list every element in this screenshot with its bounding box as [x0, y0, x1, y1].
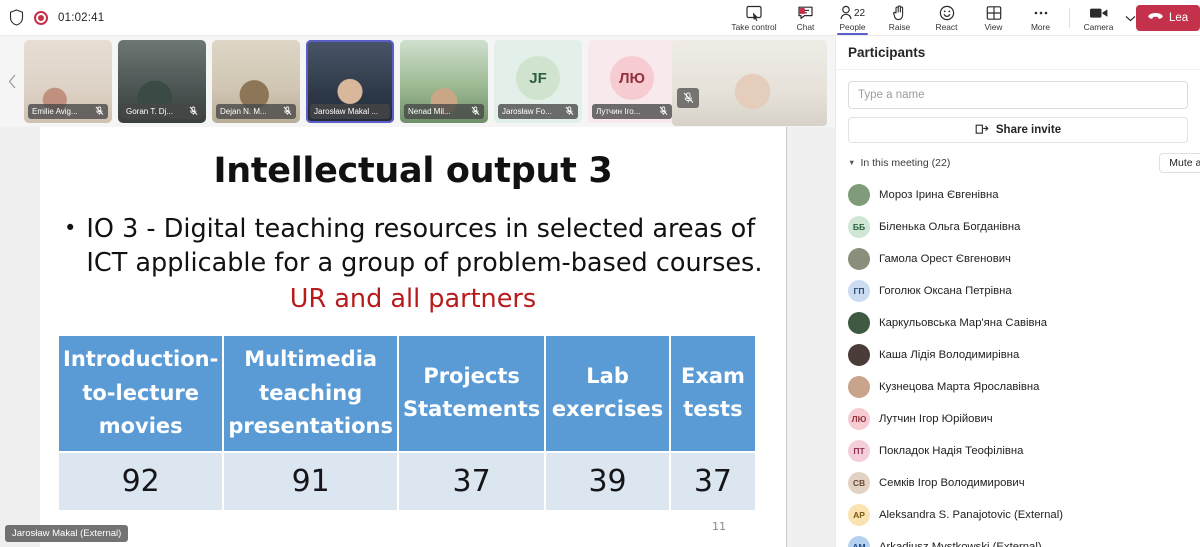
- slide-page-number: 11: [712, 520, 726, 533]
- avatar: ПТ: [848, 440, 870, 462]
- avatar: АМ: [848, 536, 870, 547]
- participant-row[interactable]: Гамола Орест Євгенович▼: [848, 243, 1188, 275]
- tile-name-bar: Nenad Mil...: [404, 104, 484, 119]
- hangup-icon: [1148, 12, 1163, 24]
- participant-row[interactable]: БББіленька Ольга Богданівна▼: [848, 211, 1188, 243]
- tile-name-bar: Лутчин Іго...: [592, 104, 672, 119]
- table-value-cell: 91: [224, 453, 397, 510]
- raise-hand-button[interactable]: Raise: [876, 0, 923, 36]
- tile-name-bar: Jarosław Makal ...: [310, 104, 390, 119]
- take-control-button[interactable]: Take control: [726, 0, 782, 36]
- participant-name: Мороз Ірина Євгенівна: [879, 189, 999, 201]
- raise-hand-label: Raise: [889, 23, 910, 32]
- camera-label: Camera: [1084, 23, 1114, 32]
- participants-panel-body: Type a name Share invite ▼ In this meeti…: [836, 70, 1200, 547]
- avatar: ЛЮ: [848, 408, 870, 430]
- table-header-cell: Projects Statements: [399, 336, 544, 451]
- tile-name-bar: Dejan N. M...: [216, 104, 296, 119]
- view-button[interactable]: View: [970, 0, 1017, 36]
- filmstrip-prev-button[interactable]: [0, 36, 24, 127]
- mic-muted-icon: [659, 103, 668, 121]
- participant-row[interactable]: АРAleksandra S. Panajotovic (External)▼: [848, 499, 1188, 531]
- active-speaker-tile[interactable]: [672, 40, 827, 126]
- participant-row[interactable]: Кузнецова Марта Ярославівна▼: [848, 371, 1188, 403]
- participant-name: Arkadiusz Mystkowski (External): [879, 541, 1042, 547]
- participant-name: Біленька Ольга Богданівна: [879, 221, 1020, 233]
- share-invite-label: Share invite: [996, 124, 1061, 136]
- slide-bullet-item: • IO 3 - Digital teaching resources in s…: [64, 213, 770, 280]
- avatar: [848, 376, 870, 398]
- participant-row[interactable]: Мороз Ірина Євгенівна▼: [848, 179, 1188, 211]
- people-label: People: [839, 23, 865, 32]
- table-header-cell: Exam tests: [671, 336, 755, 451]
- video-tile[interactable]: Jarosław Makal ...: [306, 40, 394, 123]
- shield-icon: [9, 9, 24, 26]
- toolbar-divider: [1069, 8, 1070, 28]
- table-value-cell: 37: [399, 453, 544, 510]
- teams-meeting-window: 01:02:41 Take control Chat 22: [0, 0, 1200, 547]
- more-label: More: [1031, 23, 1050, 32]
- camera-button[interactable]: Camera: [1075, 0, 1122, 36]
- in-this-meeting-section: ▼ In this meeting (22) Mute all: [848, 153, 1188, 173]
- participant-row[interactable]: ПТПокладок Надія Теофілівна▼: [848, 435, 1188, 467]
- chat-button[interactable]: Chat: [782, 0, 829, 36]
- slide-subtitle: UR and all partners: [40, 284, 786, 314]
- participant-name: Лутчин Ігор Юрійович: [879, 413, 993, 425]
- table-header-row: Introduction-to-lecture moviesMultimedia…: [59, 336, 755, 451]
- avatar: ЛЮ: [610, 56, 654, 100]
- participant-name: Каша Лідія Володимирівна: [879, 349, 1019, 361]
- slide-data-table: Introduction-to-lecture moviesMultimedia…: [57, 334, 757, 512]
- participant-name: Гоголюк Оксана Петрівна: [879, 285, 1012, 297]
- participant-name: Кузнецова Марта Ярославівна: [879, 381, 1039, 393]
- mic-muted-icon: [283, 103, 292, 121]
- leave-button[interactable]: Lea: [1136, 5, 1200, 31]
- tile-participant-name: Jarosław Fo...: [502, 107, 562, 116]
- tile-participant-name: Nenad Mil...: [408, 107, 468, 116]
- participant-row[interactable]: ГПГоголюк Оксана Петрівна▼: [848, 275, 1188, 307]
- mic-muted-icon: [565, 103, 574, 121]
- video-tile[interactable]: ЛЮЛутчин Іго...: [588, 40, 676, 123]
- avatar: [848, 312, 870, 334]
- people-active-indicator: [837, 33, 868, 35]
- table-value-cell: 37: [671, 453, 755, 510]
- take-control-label: Take control: [731, 23, 776, 32]
- toolbar-left-group: 01:02:41: [0, 9, 104, 26]
- section-header[interactable]: ▼ In this meeting (22): [848, 157, 950, 169]
- avatar: [848, 184, 870, 206]
- people-button[interactable]: 22 People: [829, 0, 876, 36]
- tile-name-bar: Jarosław Fo...: [498, 104, 578, 119]
- avatar: СВ: [848, 472, 870, 494]
- tile-participant-name: Emilie Avig...: [32, 107, 92, 116]
- participant-name: Семків Ігор Володимирович: [879, 477, 1025, 489]
- chat-unread-badge: [799, 8, 805, 14]
- react-button[interactable]: React: [923, 0, 970, 36]
- participant-row[interactable]: Каша Лідія Володимирівна▼: [848, 339, 1188, 371]
- participants-panel: Participants Type a name Share invite ▼ …: [835, 36, 1200, 547]
- table-header-cell: Multimedia teaching presentations: [224, 336, 397, 451]
- video-tile[interactable]: JFJarosław Fo...: [494, 40, 582, 123]
- participant-row[interactable]: СВСемків Ігор Володимирович▼: [848, 467, 1188, 499]
- participant-row[interactable]: ЛЮЛутчин Ігор Юрійович▼: [848, 403, 1188, 435]
- share-invite-icon: [975, 122, 989, 138]
- participant-list: Мороз Ірина Євгенівна▼БББіленька Ольга Б…: [848, 179, 1188, 547]
- participant-name: Каркульовська Мар'яна Савівна: [879, 317, 1047, 329]
- chevron-down-icon: ▼: [848, 159, 855, 167]
- recording-timer: 01:02:41: [58, 12, 104, 24]
- speaker-mic-muted-icon: [677, 88, 699, 108]
- toolbar-actions: Take control Chat 22 People: [726, 0, 1200, 36]
- avatar: ББ: [848, 216, 870, 238]
- slide-title: Intellectual output 3: [40, 151, 786, 191]
- view-label: View: [984, 23, 1002, 32]
- slide-bullet-text: IO 3 - Digital teaching resources in sel…: [86, 213, 770, 280]
- react-label: React: [936, 23, 958, 32]
- leave-label: Lea: [1169, 12, 1188, 24]
- react-smiley-icon: [939, 5, 955, 22]
- video-tile[interactable]: Nenad Mil...: [400, 40, 488, 123]
- avatar: [848, 248, 870, 270]
- avatar: ГП: [848, 280, 870, 302]
- table-value-cell: 39: [546, 453, 669, 510]
- presenter-name-chip: Jarosław Makal (External): [5, 525, 128, 542]
- table-header-cell: Lab exercises: [546, 336, 669, 451]
- people-icon: 22: [840, 5, 865, 22]
- people-count: 22: [854, 8, 865, 19]
- camera-icon: [1089, 5, 1109, 22]
- tile-name-bar: Goran T. Dj...: [122, 104, 202, 119]
- bullet-marker: •: [64, 213, 76, 280]
- avatar: [848, 344, 870, 366]
- table-header-cell: Introduction-to-lecture movies: [59, 336, 222, 451]
- participant-name: Покладок Надія Теофілівна: [879, 445, 1023, 457]
- tile-participant-name: Jarosław Makal ...: [314, 107, 386, 116]
- participant-name: Гамола Орест Євгенович: [879, 253, 1011, 265]
- table-row: 9291373937: [59, 453, 755, 510]
- participant-search-input[interactable]: Type a name: [848, 81, 1188, 109]
- chat-label: Chat: [797, 23, 815, 32]
- section-label: In this meeting (22): [860, 157, 950, 169]
- participants-panel-title: Participants: [836, 36, 1200, 70]
- tile-participant-name: Dejan N. M...: [220, 107, 280, 116]
- raise-hand-icon: [892, 5, 907, 22]
- shared-content-stage: Intellectual output 3 • IO 3 - Digital t…: [0, 127, 835, 547]
- participant-row[interactable]: Каркульовська Мар'яна Савівна▼: [848, 307, 1188, 339]
- mute-all-button[interactable]: Mute all: [1159, 153, 1200, 173]
- share-invite-button[interactable]: Share invite: [848, 117, 1188, 143]
- meeting-toolbar: 01:02:41 Take control Chat 22: [0, 0, 1200, 36]
- video-tile[interactable]: Goran T. Dj...: [118, 40, 206, 123]
- avatar: JF: [516, 56, 560, 100]
- avatar: АР: [848, 504, 870, 526]
- video-tile[interactable]: Dejan N. M...: [212, 40, 300, 123]
- record-dot-icon: [34, 11, 48, 25]
- chat-icon: [797, 5, 814, 22]
- video-tile[interactable]: Emilie Avig...: [24, 40, 112, 123]
- more-button[interactable]: More: [1017, 0, 1064, 36]
- tile-participant-name: Goran T. Dj...: [126, 107, 186, 116]
- video-tile-list: Emilie Avig...Goran T. Dj...Dejan N. M..…: [24, 40, 676, 123]
- participant-row[interactable]: АМArkadiusz Mystkowski (External)▼: [848, 531, 1188, 547]
- mic-muted-icon: [189, 103, 198, 121]
- mic-muted-icon: [95, 103, 104, 121]
- mic-muted-icon: [471, 103, 480, 121]
- participant-name: Aleksandra S. Panajotovic (External): [879, 509, 1063, 521]
- view-grid-icon: [986, 5, 1002, 22]
- search-placeholder: Type a name: [858, 89, 924, 101]
- table-value-cell: 92: [59, 453, 222, 510]
- take-control-icon: [746, 5, 763, 22]
- more-ellipsis-icon: [1032, 5, 1050, 22]
- presentation-slide[interactable]: Intellectual output 3 • IO 3 - Digital t…: [40, 127, 787, 547]
- tile-participant-name: Лутчин Іго...: [596, 107, 656, 116]
- tile-name-bar: Emilie Avig...: [28, 104, 108, 119]
